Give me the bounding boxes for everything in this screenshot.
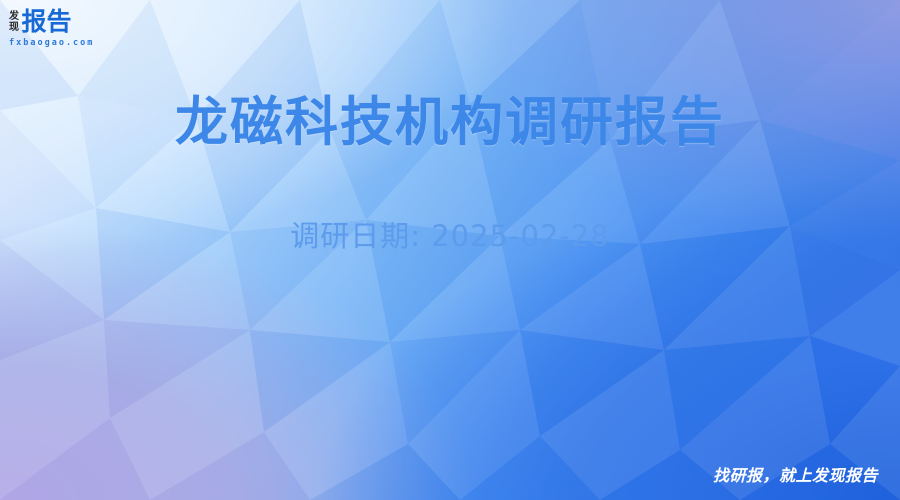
logo-mark-stacked: 发 现 <box>9 9 19 33</box>
footer-slogan: 找研报，就上发现报告 <box>713 466 878 486</box>
low-poly-background <box>0 0 900 500</box>
logo-url: fxbaogao.com <box>9 38 105 48</box>
logo-row: 发 现 报告 <box>9 9 105 36</box>
site-logo[interactable]: 发 现 报告 fxbaogao.com <box>9 9 105 48</box>
logo-mark-bottom-char: 现 <box>9 22 19 33</box>
logo-wordmark: 报告 <box>22 9 72 35</box>
logo-mark-top-char: 发 <box>9 11 19 22</box>
report-cover-slide: 发 现 报告 fxbaogao.com 龙磁科技机构调研报告 调研日期: 202… <box>0 0 900 500</box>
